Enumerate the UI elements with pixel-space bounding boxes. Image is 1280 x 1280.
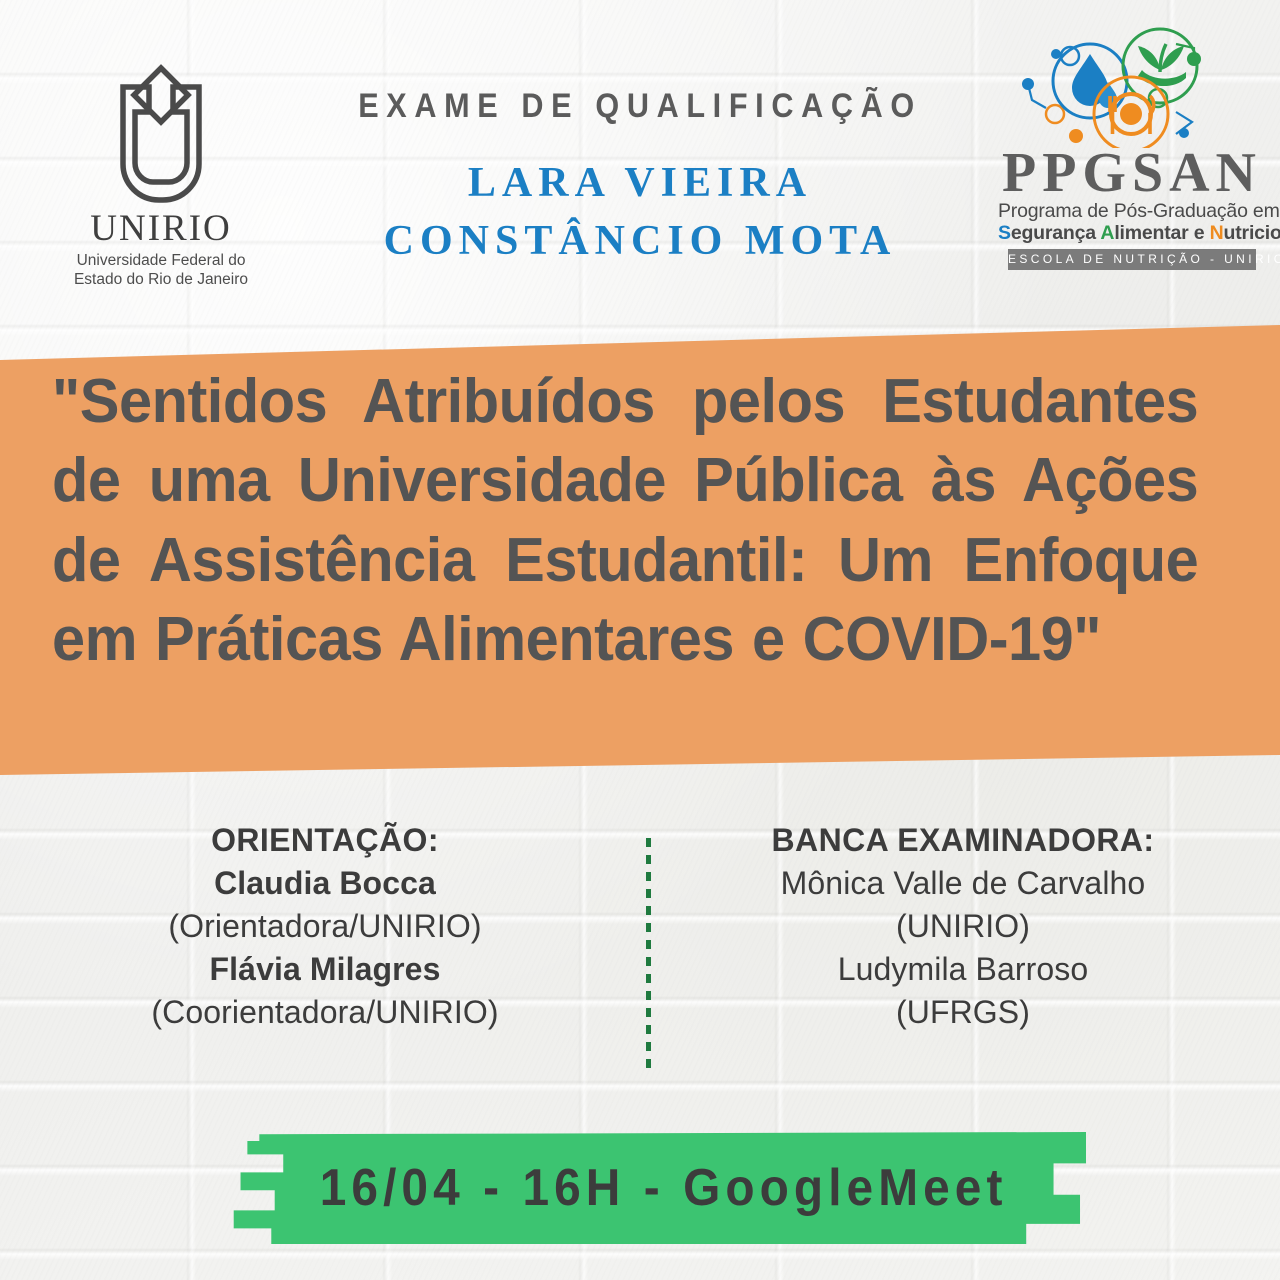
ppgsan-subtitle-line2: Segurança Alimentar e Nutricional <box>998 223 1266 245</box>
examiner-name-2: Ludymila Barroso <box>668 948 1258 991</box>
column-divider <box>646 838 651 1070</box>
ppgsan-a-letter: A <box>1100 222 1114 244</box>
examiner-affiliation-1: (UNIRIO) <box>668 905 1258 948</box>
ppgsan-icon-cluster <box>998 26 1266 148</box>
advisor-name-1: Claudia Bocca <box>30 862 620 905</box>
student-name-line2: CONSTÂNCIO MOTA <box>300 213 980 271</box>
advisors-column: ORIENTAÇÃO: Claudia Bocca (Orientadora/U… <box>30 820 620 1034</box>
student-name-line1: LARA VIEIRA <box>300 155 980 213</box>
ppgsan-subtitle-line1: Programa de Pós-Graduação em <box>998 201 1266 223</box>
ppgsan-logo: PPGSAN Programa de Pós-Graduação em Segu… <box>998 26 1266 270</box>
thesis-title-wrapper: "Sentidos Atribuídos pelos Estudantes de… <box>52 362 1246 679</box>
exam-type-label: EXAME DE QUALIFICAÇÃO <box>334 88 946 125</box>
ppgsan-n-letter: N <box>1210 222 1224 244</box>
dot-icon <box>1179 128 1189 138</box>
ppgsan-emblem-icons <box>998 26 1266 148</box>
event-poster: UNIRIO Universidade Federal do Estado do… <box>0 0 1280 1280</box>
examining-board-column: BANCA EXAMINADORA: Mônica Valle de Carva… <box>668 820 1258 1034</box>
ppgsan-wordmark: PPGSAN <box>998 146 1266 201</box>
unirio-wordmark: UNIRIO <box>46 210 276 247</box>
advisor-role-1: (Orientadora/UNIRIO) <box>30 905 620 948</box>
examiner-affiliation-2: (UFRGS) <box>668 991 1258 1034</box>
ppgsan-nutricional-word: utricional <box>1224 222 1280 244</box>
advisor-name-2: Flávia Milagres <box>30 948 620 991</box>
event-details-text: 16/04 - 16H - GoogleMeet <box>266 1132 1052 1244</box>
unirio-u-monogram-icon <box>87 60 235 208</box>
ring-icon <box>1046 105 1064 123</box>
thesis-title: "Sentidos Atribuídos pelos Estudantes de… <box>52 362 1198 679</box>
unirio-subtitle: Universidade Federal do Estado do Rio de… <box>46 251 276 290</box>
event-details-banner: 16/04 - 16H - GoogleMeet <box>232 1132 1086 1244</box>
student-name: LARA VIEIRA CONSTÂNCIO MOTA <box>300 155 980 271</box>
advisors-heading: ORIENTAÇÃO: <box>30 820 620 860</box>
ppgsan-s-letter: S <box>998 222 1011 244</box>
ppgsan-seguranca-word: egurança <box>1011 222 1101 244</box>
dot-icon <box>1069 129 1083 143</box>
people-section: ORIENTAÇÃO: Claudia Bocca (Orientadora/U… <box>0 820 1280 1110</box>
examining-board-heading: BANCA EXAMINADORA: <box>668 820 1258 860</box>
thesis-title-band: "Sentidos Atribuídos pelos Estudantes de… <box>0 300 1280 800</box>
header-title-block: EXAME DE QUALIFICAÇÃO LARA VIEIRA CONSTÂ… <box>300 88 980 271</box>
ppgsan-school-bar: ESCOLA DE NUTRIÇÃO - UNIRIO <box>1008 249 1256 270</box>
unirio-logo: UNIRIO Universidade Federal do Estado do… <box>46 60 276 290</box>
dot-icon <box>1051 49 1061 59</box>
ppgsan-alimentar-word: limentar e <box>1114 222 1209 244</box>
advisor-role-2: (Coorientadora/UNIRIO) <box>30 991 620 1034</box>
poster-header: UNIRIO Universidade Federal do Estado do… <box>0 0 1280 330</box>
examiner-name-1: Mônica Valle de Carvalho <box>668 862 1258 905</box>
